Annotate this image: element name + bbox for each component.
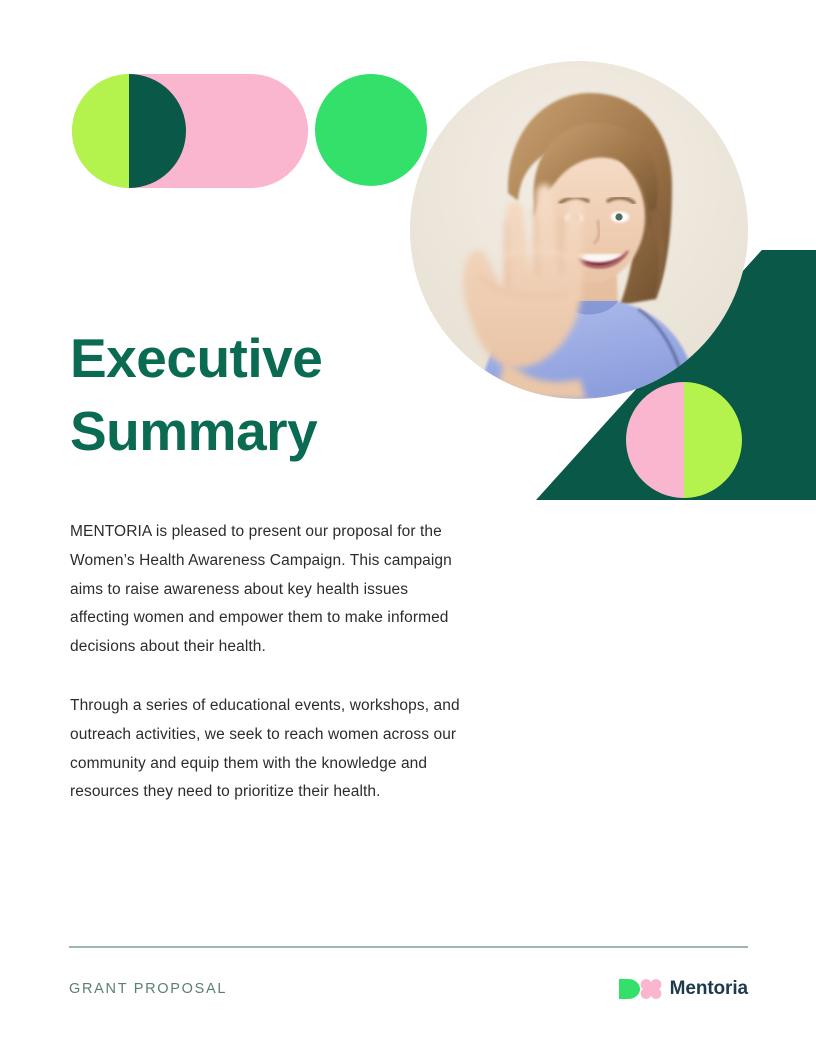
split-circle-right-half-darkgreen <box>129 74 186 188</box>
hero-photo-illustration <box>410 61 748 399</box>
page-title-line-1: Executive <box>70 327 322 389</box>
page-footer: GRANT PROPOSAL Mentoria <box>69 972 748 1006</box>
page-title-line-2: Summary <box>70 400 317 462</box>
split-circle-lime-darkgreen <box>72 74 186 188</box>
footer-divider <box>69 946 748 948</box>
split-circle2-right-half-lime <box>684 382 742 498</box>
body-paragraph-2: Through a series of educational events, … <box>70 692 470 807</box>
split-circle2-left-half-pink <box>626 382 684 498</box>
document-page: Executive Summary MENTORIA is pleased to… <box>0 0 816 1056</box>
hero-photo-circle <box>410 61 748 399</box>
split-circle-left-half-lime <box>72 74 129 188</box>
footer-document-label: GRANT PROPOSAL <box>69 981 227 997</box>
body-paragraph-1: MENTORIA is pleased to present our propo… <box>70 518 470 662</box>
bright-green-circle <box>315 74 427 186</box>
brand-lockup: Mentoria <box>618 977 748 1001</box>
body-copy: MENTORIA is pleased to present our propo… <box>70 518 470 807</box>
split-circle-pink-lime <box>626 382 742 498</box>
brand-name: Mentoria <box>670 978 748 1000</box>
page-title: Executive Summary <box>70 322 430 467</box>
mentoria-logo-icon <box>618 977 662 1001</box>
